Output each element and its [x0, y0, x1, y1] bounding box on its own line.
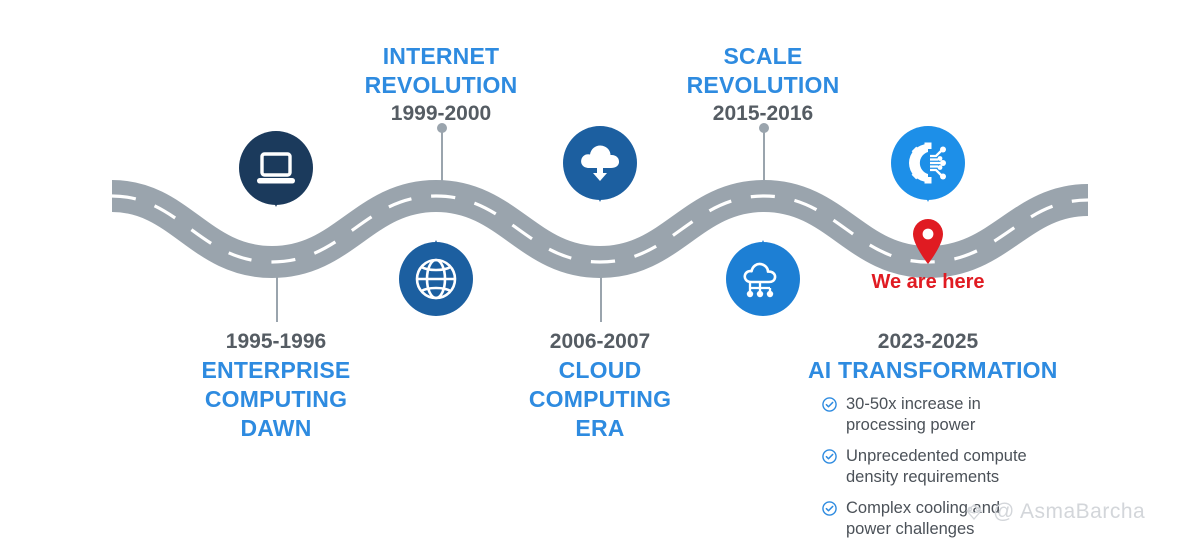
era-title-line: INTERNET	[321, 42, 561, 71]
current-position-label: We are here	[828, 270, 1028, 294]
connector-stem-enterprise-dawn	[276, 272, 278, 322]
ai-transformation-benefits-list: 30-50x increase in processing power Unpr…	[822, 394, 1122, 550]
era-title-line: SCALE	[643, 42, 883, 71]
era-years: 2006-2007	[480, 328, 720, 356]
map-pin-icon	[911, 218, 945, 264]
era-years: 1995-1996	[156, 328, 396, 356]
list-item-line: processing power	[846, 415, 981, 436]
list-item: Unprecedented compute density requiremen…	[822, 446, 1122, 488]
cloud-network-icon	[724, 240, 802, 318]
milestone-marker-cloud-computing-era[interactable]	[561, 124, 639, 202]
connector-stem-cloud-era	[600, 272, 602, 322]
era-title-line: CLOUD	[480, 356, 720, 385]
current-position-marker[interactable]: We are here	[828, 218, 1028, 294]
milestone-marker-enterprise-computing-dawn[interactable]	[237, 129, 315, 207]
era-title-line: ERA	[480, 414, 720, 443]
milestone-marker-internet-revolution[interactable]	[397, 240, 475, 318]
list-item-line: 30-50x increase in	[846, 394, 981, 415]
diamond-logo-icon	[962, 500, 986, 524]
connector-knob	[272, 267, 282, 277]
era-title-line: COMPUTING	[156, 385, 396, 414]
list-item: 30-50x increase in processing power	[822, 394, 1122, 436]
check-circle-icon	[822, 449, 837, 464]
list-item-text: 30-50x increase in processing power	[846, 394, 981, 436]
ai-gear-circuit-icon	[889, 124, 967, 202]
timeline-infographic: INTERNET REVOLUTION 1999-2000 SCALE REVO…	[0, 0, 1200, 542]
connector-knob	[596, 267, 606, 277]
era-title-line: AI TRANSFORMATION	[808, 356, 1048, 385]
era-years: 2015-2016	[643, 100, 883, 128]
milestone-label-scale-revolution: SCALE REVOLUTION 2015-2016	[643, 42, 883, 128]
milestone-label-internet-revolution: INTERNET REVOLUTION 1999-2000	[321, 42, 561, 128]
milestone-marker-ai-transformation[interactable]	[889, 124, 967, 202]
era-title-line: COMPUTING	[480, 385, 720, 414]
milestone-label-cloud-computing-era: 2006-2007 CLOUD COMPUTING ERA	[480, 328, 720, 443]
milestone-label-ai-transformation: 2023-2025 AI TRANSFORMATION	[808, 328, 1048, 385]
list-item-text: Unprecedented compute density requiremen…	[846, 446, 1027, 488]
era-title-line: DAWN	[156, 414, 396, 443]
connector-stem-internet-revolution	[441, 128, 443, 186]
era-years: 1999-2000	[321, 100, 561, 128]
cloud-sync-icon	[561, 124, 639, 202]
milestone-label-enterprise-computing-dawn: 1995-1996 ENTERPRISE COMPUTING DAWN	[156, 328, 396, 443]
era-years: 2023-2025	[808, 328, 1048, 356]
milestone-marker-scale-revolution[interactable]	[724, 240, 802, 318]
era-title-line: REVOLUTION	[321, 71, 561, 100]
connector-stem-scale-revolution	[763, 128, 765, 186]
globe-icon	[397, 240, 475, 318]
era-title-line: REVOLUTION	[643, 71, 883, 100]
check-circle-icon	[822, 501, 837, 516]
laptop-icon	[237, 129, 315, 207]
check-circle-icon	[822, 397, 837, 412]
era-title-line: ENTERPRISE	[156, 356, 396, 385]
list-item-line: Unprecedented compute	[846, 446, 1027, 467]
list-item-line: density requirements	[846, 467, 1027, 488]
watermark: @ AsmaBarcha	[962, 500, 1145, 524]
watermark-text: @ AsmaBarcha	[993, 500, 1145, 524]
